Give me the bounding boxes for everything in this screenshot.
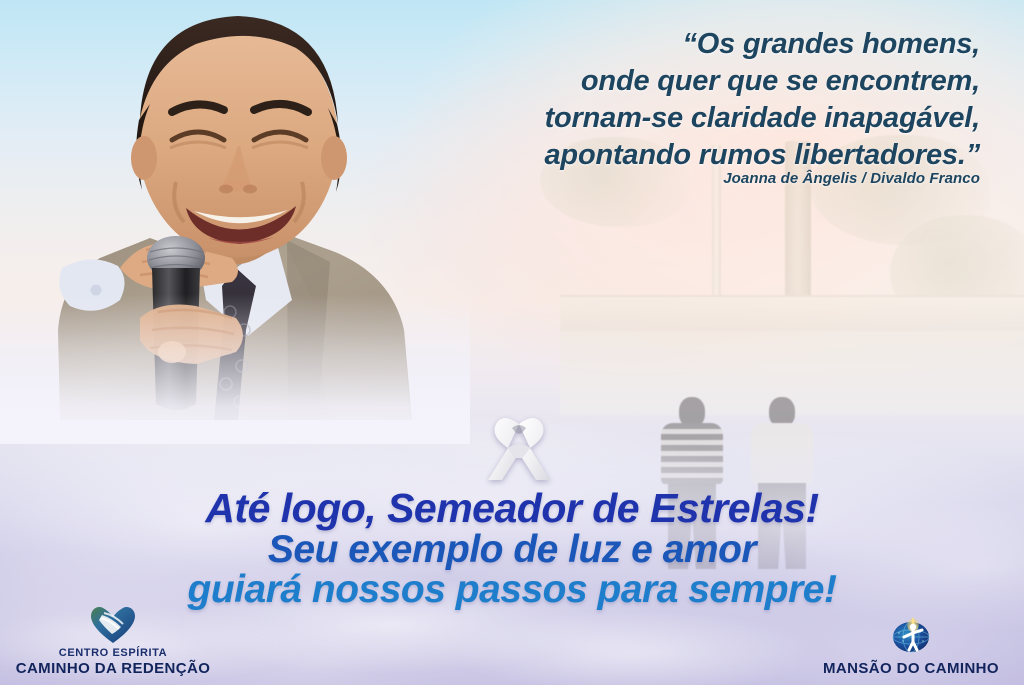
logo-mansao-do-caminho: MANSÃO DO CAMINHO xyxy=(806,613,1016,677)
headline-line-1: Até logo, Semeador de Estrelas! xyxy=(0,487,1024,530)
white-mourning-ribbon-icon xyxy=(478,408,560,488)
quote-line-4: apontando rumos libertadores.” xyxy=(420,137,980,174)
logo-right-line-1: MANSÃO DO CAMINHO xyxy=(806,660,1016,677)
quote-text: “Os grandes homens, onde quer que se enc… xyxy=(420,26,980,174)
headline-line-2: Seu exemplo de luz e amor xyxy=(0,530,1024,571)
logo-left-line-1: CENTRO ESPÍRITA xyxy=(8,647,218,659)
headline-block: Até logo, Semeador de Estrelas! Seu exem… xyxy=(0,487,1024,611)
memorial-poster: “Os grandes homens, onde quer que se enc… xyxy=(0,0,1024,685)
logo-centro-espirita: CENTRO ESPÍRITA CAMINHO DA REDENÇÃO xyxy=(8,603,218,677)
divaldo-franco-portrait xyxy=(0,0,470,440)
heart-hands-icon xyxy=(8,603,218,645)
quote-attribution: Joanna de Ângelis / Divaldo Franco xyxy=(420,170,980,187)
quote-line-2: onde quer que se encontrem, xyxy=(420,63,980,100)
logo-left-line-2: CAMINHO DA REDENÇÃO xyxy=(8,660,218,677)
quote-line-3: tornam-se claridade inapagável, xyxy=(420,100,980,137)
globe-figure-icon xyxy=(806,613,1016,655)
quote-line-1: “Os grandes homens, xyxy=(420,26,980,63)
